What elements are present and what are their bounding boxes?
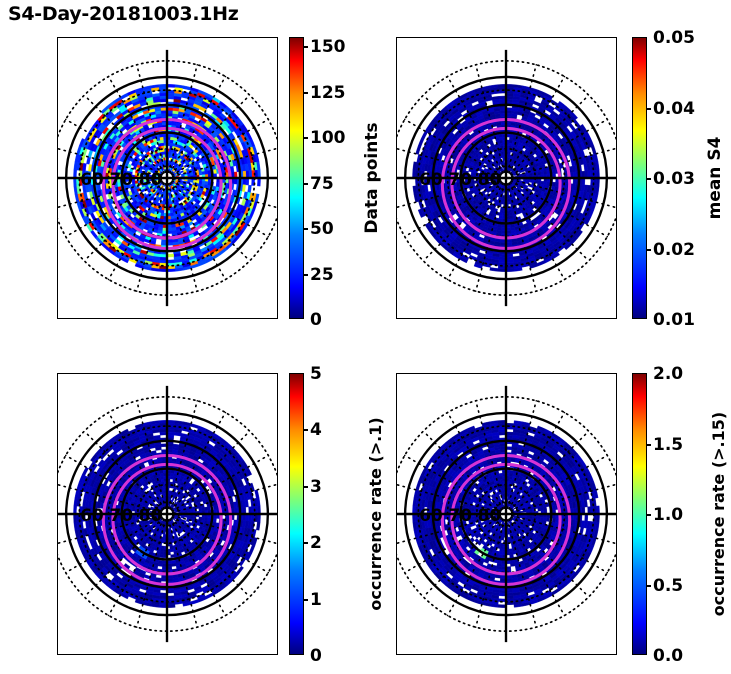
page-title: S4-Day-20181003.1Hz (8, 3, 239, 25)
data-bin (233, 520, 237, 526)
polar-plot-occ-01: 607080 (58, 374, 277, 654)
latitude-tick-label: 70 (110, 169, 133, 189)
colorbar-title: mean S4 (705, 137, 725, 220)
data-bin (190, 423, 199, 428)
data-bin (163, 198, 165, 201)
polar-plot-data-points: 607080 (58, 38, 277, 318)
latitude-tick-label: 60 (80, 169, 103, 189)
colorbar-data-points[interactable]: 0255075100125150Data points (289, 37, 304, 319)
data-bin (205, 593, 213, 599)
figure-canvas: S4-Day-20181003.1Hz 607080 0255075100125… (0, 0, 731, 674)
data-bin (257, 178, 260, 186)
data-bin (183, 86, 191, 91)
data-bin (537, 260, 546, 266)
colorbar-tick-label: 100 (310, 128, 346, 148)
polar-plot-mean-s4: 607080 (397, 38, 616, 318)
colorbar-tick (303, 274, 308, 276)
data-bin (584, 164, 588, 171)
polar-svg-1: 607080 (58, 38, 277, 318)
data-bin (248, 185, 252, 193)
data-bin (86, 157, 90, 164)
data-bin (256, 522, 260, 530)
panel-mean-s4[interactable]: 607080 (396, 37, 617, 319)
data-bin (82, 467, 88, 475)
data-bin (168, 192, 170, 195)
data-bin (249, 545, 255, 554)
data-bin (508, 152, 511, 155)
data-bin (513, 256, 520, 260)
data-bin (167, 84, 175, 87)
data-bin (591, 146, 596, 155)
data-bin (533, 101, 541, 106)
data-bin (503, 160, 505, 163)
latitude-tick-label: 80 (139, 169, 162, 189)
panel-occurrence-rate-gt-01[interactable]: 607080 (57, 373, 278, 655)
colorbar-tick-label: 0.05 (653, 28, 695, 48)
colorbar-tick-label: 0.03 (653, 169, 695, 189)
data-bin (190, 599, 199, 604)
polar-svg-2: 607080 (397, 38, 616, 318)
data-bin (418, 138, 424, 147)
colorbar-tick (303, 46, 308, 48)
colorbar-tick-label: 50 (310, 219, 334, 239)
data-bin (120, 93, 128, 99)
colorbar-tick-label: 0.02 (653, 240, 695, 260)
data-bin (236, 566, 243, 574)
data-bin (73, 506, 76, 514)
colorbar-tick (303, 92, 308, 94)
colorbar-tick (303, 228, 308, 230)
latitude-tick-label: 70 (449, 169, 472, 189)
colorbar-mean-s4[interactable]: 0.010.020.030.040.05mean S4 (632, 37, 647, 319)
colorbar-tick-label: 125 (310, 83, 346, 103)
latitude-tick-label: 80 (478, 169, 501, 189)
data-bin (88, 150, 93, 158)
colorbar-gradient (633, 38, 646, 318)
latitude-labels: 607080 (80, 169, 162, 189)
colorbar-gradient (290, 38, 303, 318)
colorbar-tick-label: 0 (310, 310, 322, 330)
latitude-labels: 607080 (419, 169, 501, 189)
panel-data-points[interactable]: 607080 (57, 37, 278, 319)
colorbar-tick (646, 249, 651, 251)
data-bin (90, 230, 97, 238)
data-bin (490, 267, 498, 271)
colorbar-tick (303, 183, 308, 185)
data-bin (255, 490, 260, 498)
colorbar-tick (646, 178, 651, 180)
polar-svg-3: 607080 (58, 374, 277, 654)
data-bin (155, 577, 161, 581)
colorbar-tick-label: 75 (310, 174, 334, 194)
data-bin (529, 180, 532, 183)
colorbar-title: Data points (362, 122, 382, 233)
colorbar-tick (646, 108, 651, 110)
colorbar-tick-label: 0.04 (653, 99, 695, 119)
colorbar-tick-label: 0.01 (653, 310, 695, 330)
latitude-tick-label: 60 (419, 169, 442, 189)
data-bin (421, 131, 427, 139)
data-bin (155, 447, 161, 451)
colorbar-tick-label: 150 (310, 37, 346, 57)
data-bin (73, 170, 76, 178)
data-bin (416, 146, 421, 155)
data-bin (174, 432, 181, 436)
colorbar-tick (303, 137, 308, 139)
colorbar-tick-label: 25 (310, 265, 334, 285)
data-bin (190, 180, 193, 183)
data-bin (216, 182, 219, 187)
